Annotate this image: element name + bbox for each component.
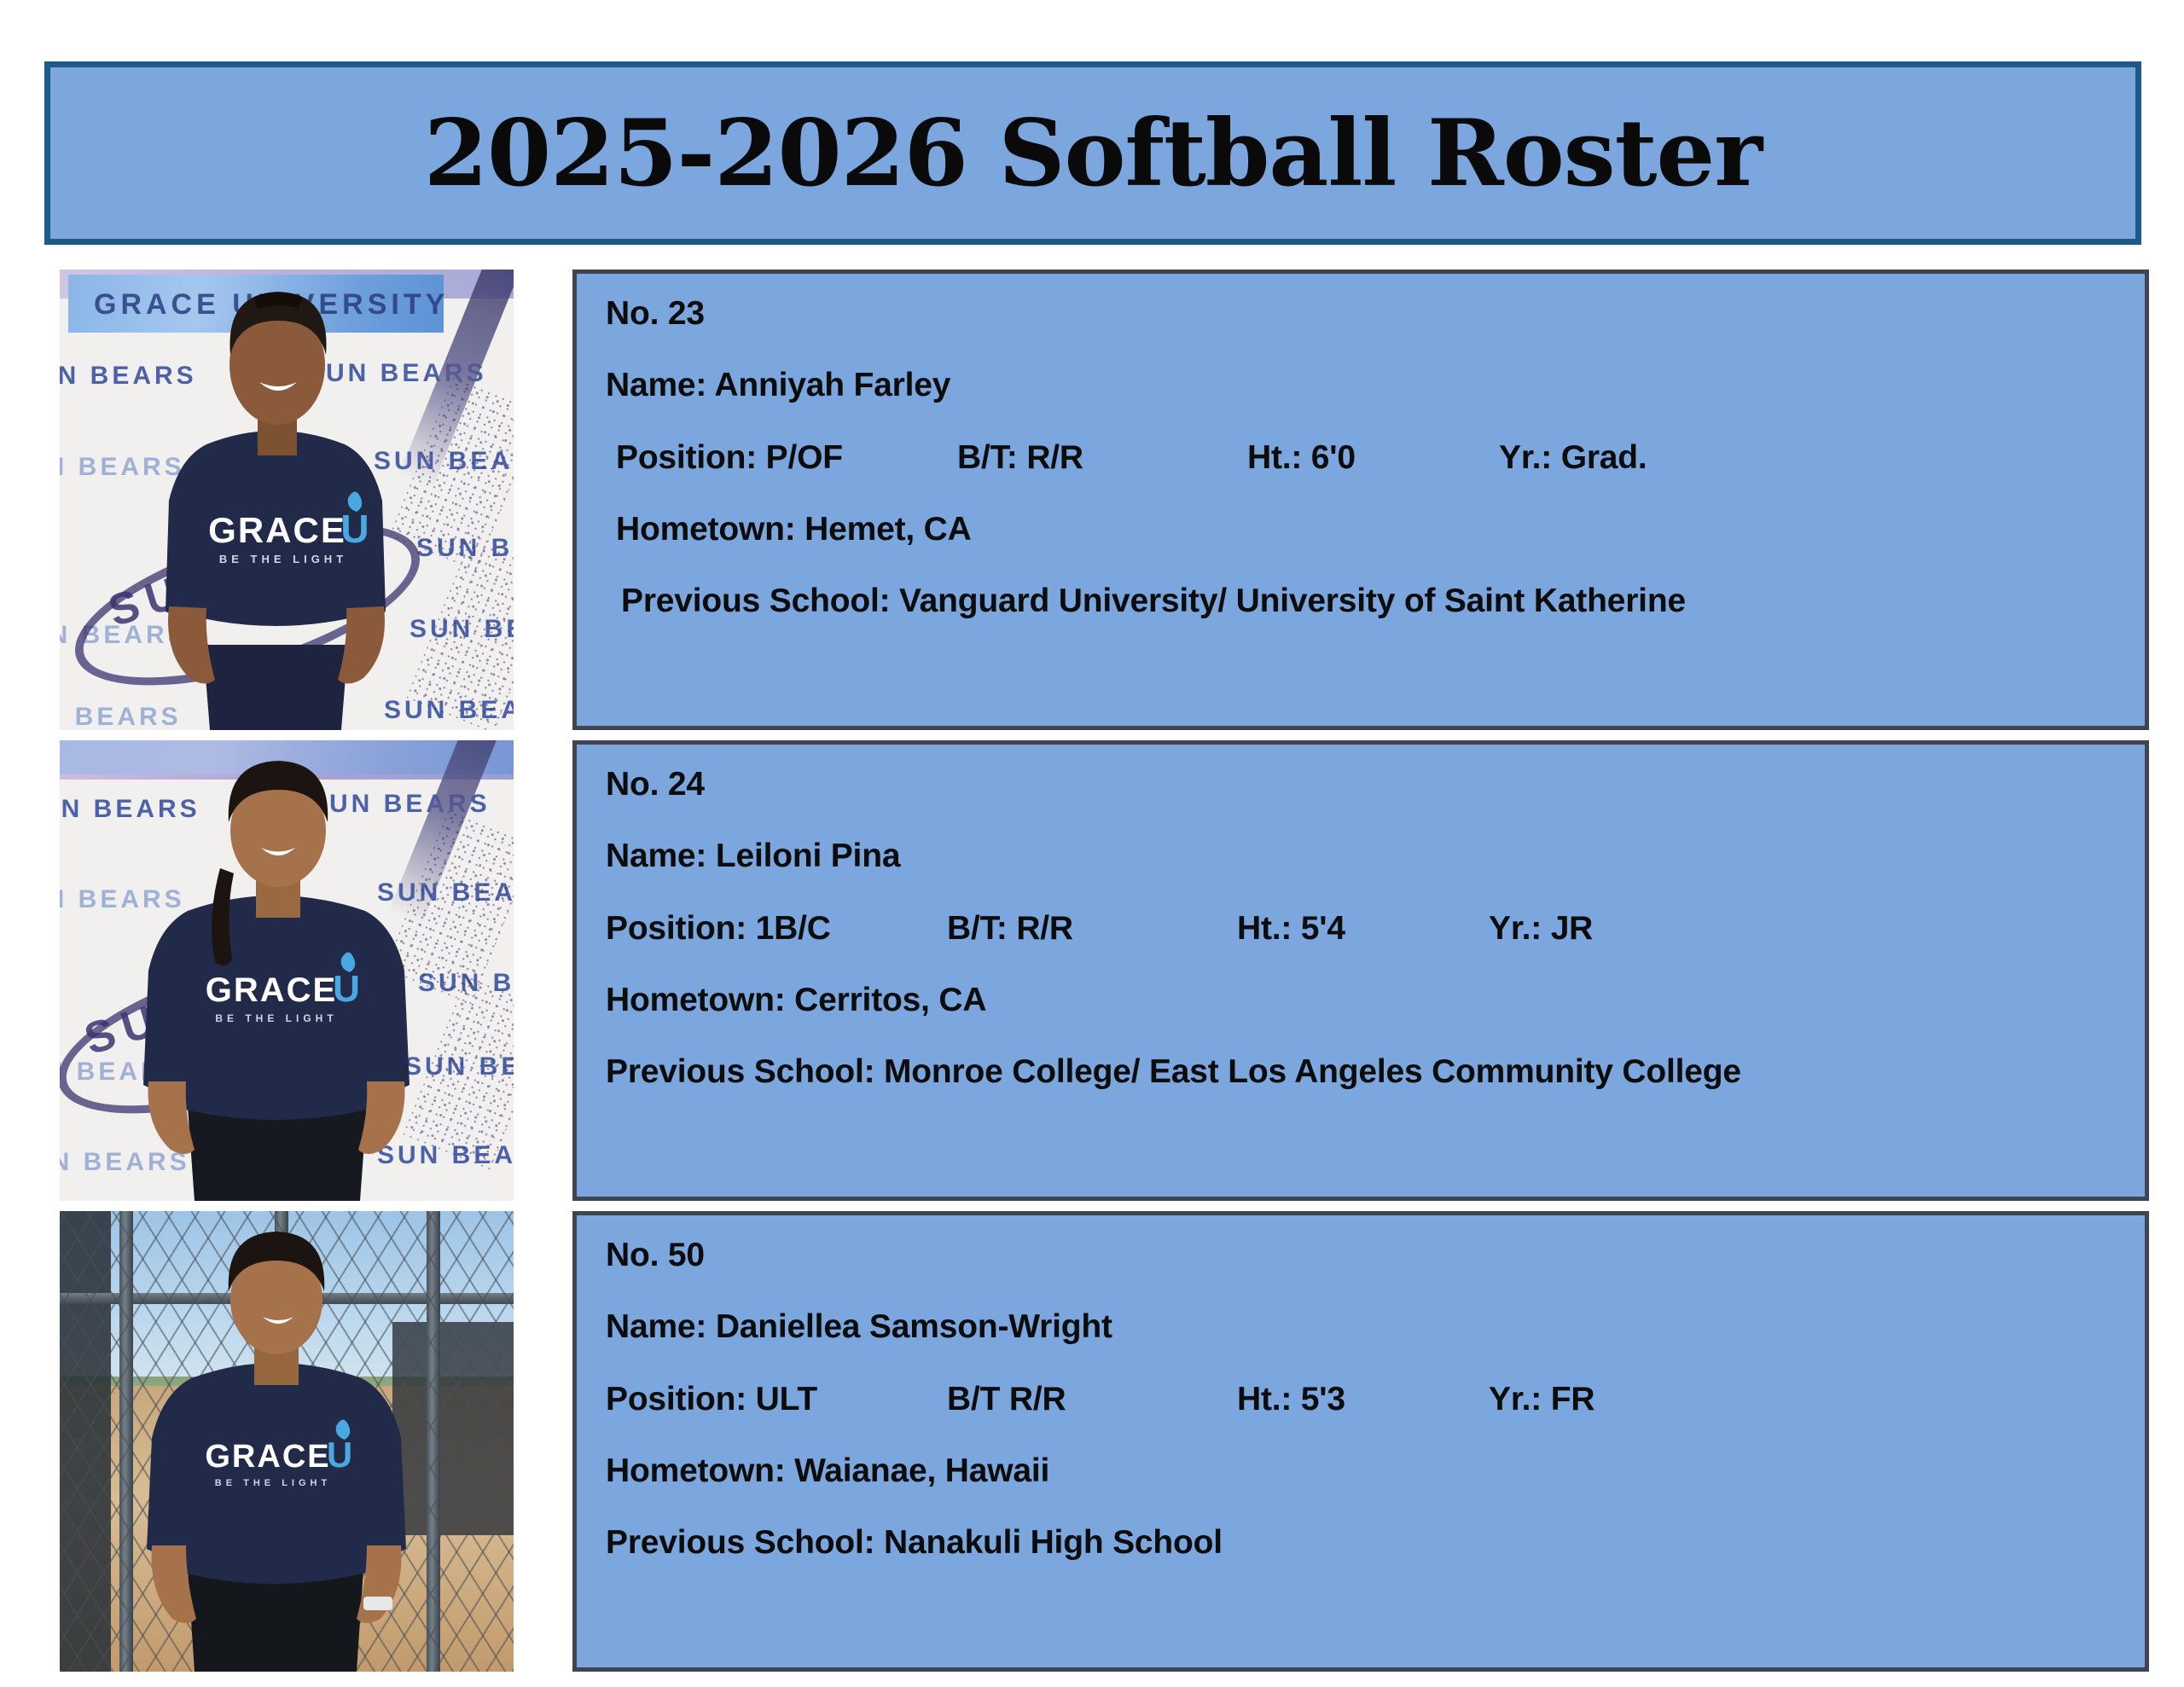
roster-page: 2025-2026 Softball Roster GRACE UNIVERSI… [0,0,2184,1687]
player-stats: Position: ULT B/T R/R Ht.: 5'3 Yr.: FR [606,1382,2116,1417]
player-number: No. 23 [606,296,2116,331]
player-figure: GRACE U BE THE LIGHT [60,270,514,730]
svg-text:BE THE LIGHT: BE THE LIGHT [219,553,347,565]
player-hometown: Hometown: Cerritos, CA [606,983,2116,1017]
player-year: Yr.: JR [1489,911,1659,946]
roster-entry-50: GRACE U BE THE LIGHT No. 50 Name: Daniel… [0,1211,2184,1672]
player-year: Yr.: Grad. [1499,440,1670,475]
player-bats-throws: B/T: R/R [947,911,1237,946]
svg-text:U: U [333,968,360,1010]
player-bats-throws: B/T: R/R [957,440,1247,475]
roster-entry-24: SUN BEARS SUN BEARS SUN BEARS SUN BEARS … [0,740,2184,1201]
player-height: Ht.: 6'0 [1247,440,1499,475]
player-info-card-24: No. 24 Name: Leiloni Pina Position: 1B/C… [572,740,2149,1201]
player-previous-school: Previous School: Monroe College/ East Lo… [606,1054,2116,1089]
player-photo-50: GRACE U BE THE LIGHT [60,1211,514,1672]
svg-text:U: U [327,1435,352,1475]
player-name: Name: Daniellea Samson-Wright [606,1309,2116,1344]
player-figure: GRACE U BE THE LIGHT [60,1211,514,1672]
player-name: Name: Anniyah Farley [606,368,2116,403]
player-position: Position: ULT [606,1382,947,1417]
svg-text:GRACE: GRACE [206,971,337,1009]
player-name: Name: Leiloni Pina [606,838,2116,873]
roster-entry-23: GRACE UNIVERSITY SUN BEARS SUN BEARS SUN… [0,270,2184,730]
player-previous-school: Previous School: Vanguard University/ Un… [606,583,2116,618]
page-title: 2025-2026 Softball Roster [424,107,1762,200]
player-photo-23: GRACE UNIVERSITY SUN BEARS SUN BEARS SUN… [60,270,514,730]
player-hometown: Hometown: Waianae, Hawaii [606,1453,2116,1488]
player-stats: Position: 1B/C B/T: R/R Ht.: 5'4 Yr.: JR [606,911,2116,946]
player-height: Ht.: 5'4 [1237,911,1489,946]
player-height: Ht.: 5'3 [1237,1382,1489,1417]
player-year: Yr.: FR [1489,1382,1659,1417]
player-info-card-23: No. 23 Name: Anniyah Farley Position: P/… [572,270,2149,730]
svg-text:BE THE LIGHT: BE THE LIGHT [215,1478,331,1488]
player-number: No. 50 [606,1238,2116,1272]
roster-list: GRACE UNIVERSITY SUN BEARS SUN BEARS SUN… [0,270,2184,1682]
player-previous-school: Previous School: Nanakuli High School [606,1525,2116,1560]
page-title-banner: 2025-2026 Softball Roster [44,61,2141,245]
svg-text:BE THE LIGHT: BE THE LIGHT [215,1012,337,1024]
player-stats: Position: P/OF B/T: R/R Ht.: 6'0 Yr.: Gr… [606,440,2116,475]
player-bats-throws: B/T R/R [947,1382,1237,1417]
svg-text:U: U [340,507,369,551]
player-info-card-50: No. 50 Name: Daniellea Samson-Wright Pos… [572,1211,2149,1672]
player-number: No. 24 [606,767,2116,802]
player-photo-24: SUN BEARS SUN BEARS SUN BEARS SUN BEARS … [60,740,514,1201]
player-hometown: Hometown: Hemet, CA [606,512,2116,547]
player-position: Position: 1B/C [606,911,947,946]
svg-text:GRACE: GRACE [208,510,346,550]
player-position: Position: P/OF [616,440,957,475]
svg-text:GRACE: GRACE [205,1439,330,1475]
player-figure: GRACE U BE THE LIGHT [60,740,514,1201]
